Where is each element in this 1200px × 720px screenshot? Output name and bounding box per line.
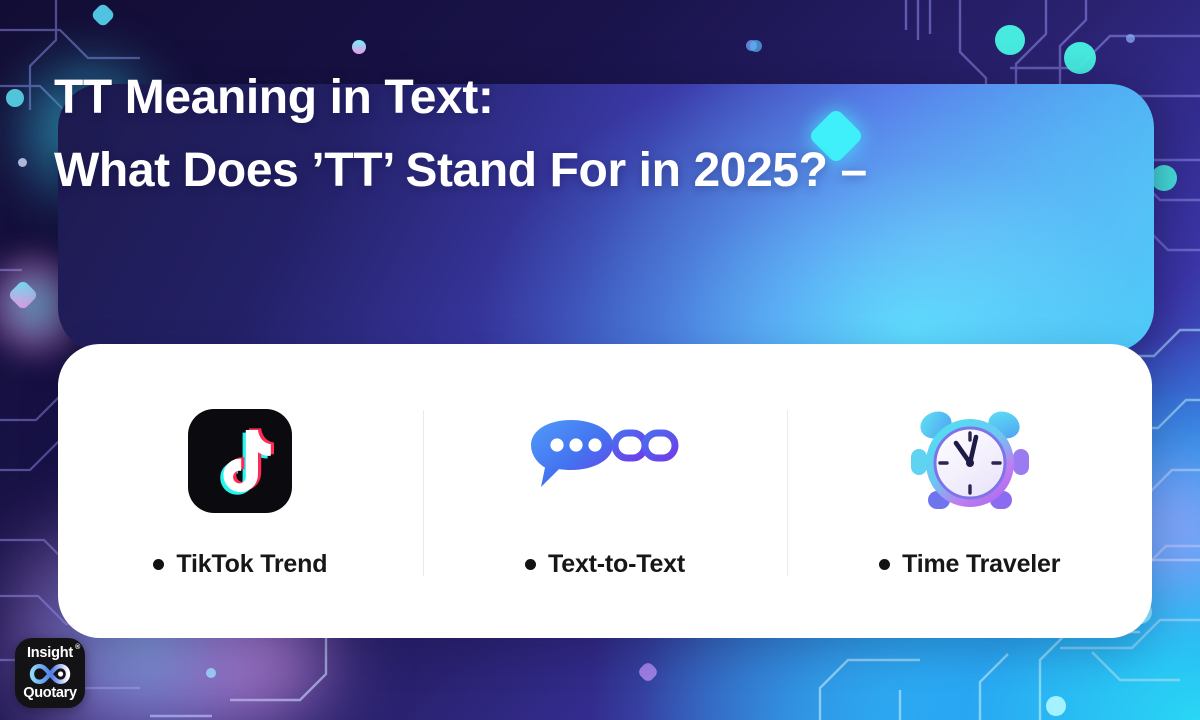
card-label-text: TikTok Trend xyxy=(176,550,327,579)
headline-line-2: What Does ’TT’ Stand For in 2025? – xyxy=(54,135,867,208)
bullet-icon xyxy=(153,559,164,570)
page-title: TT Meaning in Text: What Does ’TT’ Stand… xyxy=(54,62,867,208)
card-label-tiktok-trend: TikTok Trend xyxy=(153,550,327,579)
brand-top-text: Insight xyxy=(27,645,73,661)
meanings-card: TikTok Trend xyxy=(58,344,1152,638)
bullet-icon xyxy=(525,559,536,570)
bullet-icon xyxy=(879,559,890,570)
headline-line-1: TT Meaning in Text: xyxy=(54,71,494,124)
registered-mark: ® xyxy=(75,644,80,651)
card-label-time-traveler: Time Traveler xyxy=(879,550,1060,579)
card-item-text-to-text[interactable]: Text-to-Text xyxy=(423,344,788,638)
speech-bubble-link-icon xyxy=(519,402,691,520)
card-item-tiktok-trend[interactable]: TikTok Trend xyxy=(58,344,423,638)
card-label-text-to-text: Text-to-Text xyxy=(525,550,685,579)
brand-name-bottom: Quotary xyxy=(23,686,77,701)
infographic-stage: TT Meaning in Text: What Does ’TT’ Stand… xyxy=(0,0,1200,720)
card-label-text: Text-to-Text xyxy=(548,550,685,579)
brand-logo-badge[interactable]: Insight® Quotary xyxy=(15,638,85,708)
alarm-clock-icon xyxy=(906,402,1034,520)
brand-name-top: Insight® xyxy=(27,646,73,661)
card-item-time-traveler[interactable]: Time Traveler xyxy=(787,344,1152,638)
infinity-loop-icon xyxy=(27,663,73,685)
card-label-text: Time Traveler xyxy=(902,550,1060,579)
tiktok-logo-icon xyxy=(188,402,292,520)
